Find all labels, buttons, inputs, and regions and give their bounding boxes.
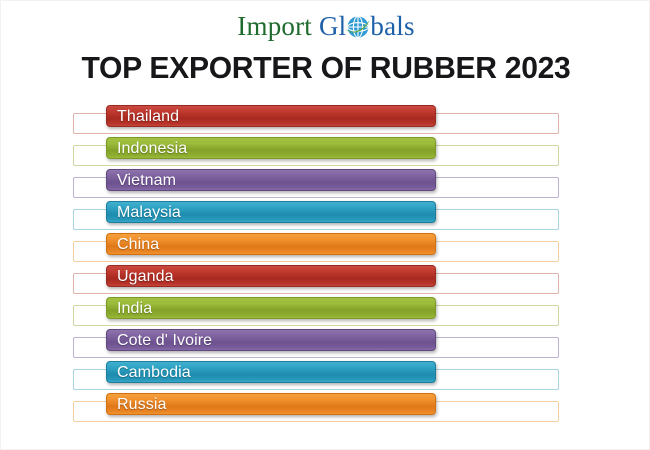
bar-fill[interactable]: Vietnam <box>106 169 436 191</box>
bar-label: Uganda <box>117 266 174 287</box>
brand-logo: ImportGl bals <box>1 5 650 47</box>
bar-label: India <box>117 298 152 319</box>
bar-label: Cambodia <box>117 362 191 383</box>
logo-wordmark: ImportGl bals <box>237 13 414 40</box>
bar-fill[interactable]: Malaysia <box>106 201 436 223</box>
logo-text-bals: bals <box>370 11 414 41</box>
bar-row: Vietnam <box>1 168 650 200</box>
bar-fill[interactable]: Russia <box>106 393 436 415</box>
bar-row: Cambodia <box>1 360 650 392</box>
bar-row: Uganda <box>1 264 650 296</box>
bar-fill[interactable]: Uganda <box>106 265 436 287</box>
bar-fill[interactable]: India <box>106 297 436 319</box>
bar-row: India <box>1 296 650 328</box>
bar-label: China <box>117 234 159 255</box>
bar-label: Thailand <box>117 106 179 127</box>
bar-fill[interactable]: Cambodia <box>106 361 436 383</box>
bar-label: Indonesia <box>117 138 187 159</box>
bar-fill[interactable]: Thailand <box>106 105 436 127</box>
bar-label: Russia <box>117 394 167 415</box>
bar-chart: Thailand Indonesia Vietnam Malaysia Chin <box>1 104 650 434</box>
bar-fill[interactable]: Indonesia <box>106 137 436 159</box>
bar-row: Malaysia <box>1 200 650 232</box>
bar-row: China <box>1 232 650 264</box>
bar-row: Russia <box>1 392 650 424</box>
bar-label: Cote d' Ivoire <box>117 330 212 351</box>
bar-fill[interactable]: China <box>106 233 436 255</box>
bar-label: Vietnam <box>117 170 176 191</box>
infographic-canvas: ImportGl bals TOP EXPORTER OF RUBBER 202… <box>0 0 650 450</box>
logo-text-import: Import <box>237 11 312 41</box>
bar-row: Cote d' Ivoire <box>1 328 650 360</box>
page-title: TOP EXPORTER OF RUBBER 2023 <box>11 49 642 87</box>
bar-row: Indonesia <box>1 136 650 168</box>
bar-row: Thailand <box>1 104 650 136</box>
globe-icon <box>345 14 371 40</box>
logo-text-gl: Gl <box>319 11 346 41</box>
bar-label: Malaysia <box>117 202 181 223</box>
bar-fill[interactable]: Cote d' Ivoire <box>106 329 436 351</box>
